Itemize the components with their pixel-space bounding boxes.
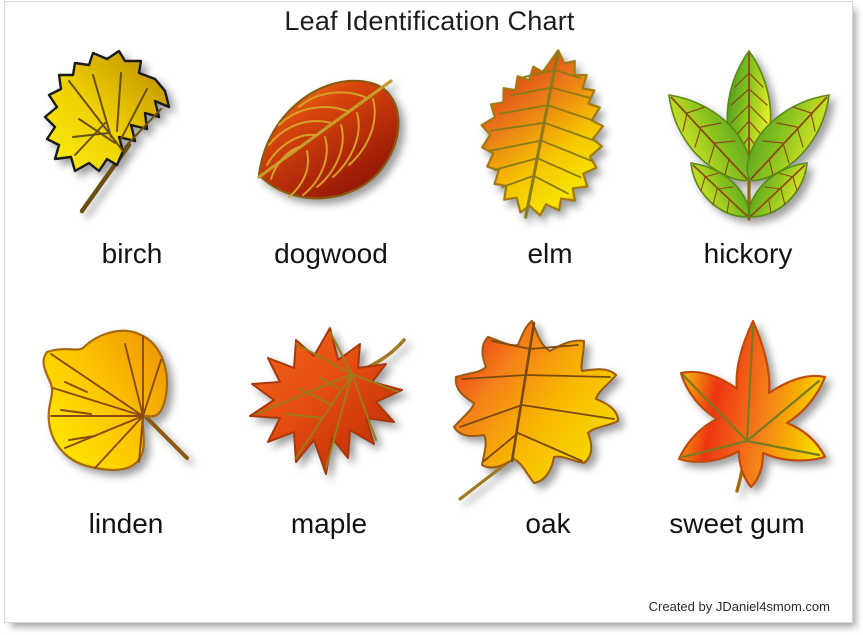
leaf-label-birch: birch — [13, 238, 225, 270]
leaf-cell-linden[interactable]: linden — [7, 310, 219, 580]
leaf-label-oak: oak — [435, 508, 647, 540]
chart-sheet: Leaf Identification Chart — [4, 1, 853, 623]
dogwood-leaf-icon — [241, 55, 421, 225]
elm-leaf-icon — [458, 43, 628, 238]
leaf-cell-hickory[interactable]: hickory — [642, 40, 854, 310]
leaf-label-maple: maple — [223, 508, 435, 540]
leaf-cell-birch[interactable]: birch — [13, 40, 225, 310]
oak-blade — [454, 321, 618, 483]
linden-stem — [143, 414, 187, 458]
leaf-label-elm: elm — [437, 238, 649, 270]
sweet-gum-leaf-icon — [653, 315, 843, 505]
sweet-gum-leaf-art — [642, 310, 854, 510]
leaf-cell-oak[interactable]: oak — [435, 310, 647, 580]
hickory-leaf-icon — [653, 43, 843, 238]
dogwood-leaf-art — [225, 40, 437, 240]
maple-leaf-art — [223, 310, 435, 510]
linden-leaf-art — [7, 310, 219, 510]
leaf-grid: birch — [5, 40, 854, 580]
leaf-label-sweet-gum: sweet gum — [642, 508, 854, 540]
elm-leaf-art — [437, 40, 649, 240]
linden-leaf-icon — [21, 318, 206, 503]
dogwood-blade — [259, 81, 398, 198]
birch-leaf-icon — [29, 45, 209, 235]
page-title: Leaf Identification Chart — [5, 6, 854, 37]
leaf-label-hickory: hickory — [642, 238, 854, 270]
birch-leaf-art — [13, 40, 225, 240]
hickory-leaf-art — [642, 40, 854, 240]
leaf-cell-sweet-gum[interactable]: sweet gum — [642, 310, 854, 580]
oak-leaf-art — [435, 310, 647, 510]
birch-blade — [45, 51, 169, 171]
leaf-row: linden — [5, 310, 854, 580]
leaf-label-linden: linden — [7, 508, 219, 540]
oak-leaf-icon — [446, 313, 636, 508]
leaf-cell-dogwood[interactable]: dogwood — [225, 40, 437, 310]
leaf-identification-chart-page: Leaf Identification Chart — [0, 0, 863, 635]
leaf-row: birch — [5, 40, 854, 310]
maple-leaf-icon — [234, 318, 424, 503]
credit-text: Created by JDaniel4smom.com — [649, 599, 830, 614]
leaf-cell-maple[interactable]: maple — [223, 310, 435, 580]
leaf-cell-elm[interactable]: elm — [437, 40, 649, 310]
leaf-label-dogwood: dogwood — [225, 238, 437, 270]
